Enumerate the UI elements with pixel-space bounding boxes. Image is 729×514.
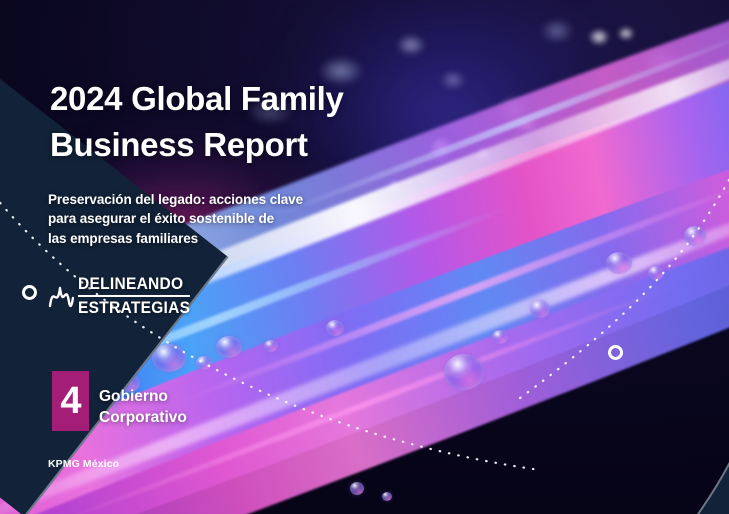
logo-line-2: ESTRATEGIAS bbox=[78, 297, 190, 317]
section-title-line-2: Corporativo bbox=[99, 408, 187, 429]
title-line-1: 2024 Global Family bbox=[50, 76, 470, 122]
subtitle-line-3: las empresas familiares bbox=[48, 229, 358, 249]
wave-squiggle-icon bbox=[48, 276, 74, 316]
footer-brand: KPMG México bbox=[48, 458, 119, 470]
logo-line-1: DELINEANDO bbox=[78, 276, 190, 297]
title-line-2: Business Report bbox=[50, 122, 470, 168]
page-title: 2024 Global Family Business Report bbox=[50, 76, 470, 167]
subtitle-line-1: Preservación del legado: acciones clave bbox=[48, 190, 358, 210]
delineando-estrategias-logo: DELINEANDO ESTRATEGIAS bbox=[48, 276, 197, 316]
section-title-line-1: Gobierno bbox=[99, 387, 187, 408]
section-title: Gobierno Corporativo bbox=[99, 387, 187, 429]
subtitle-line-2: para asegurar el éxito sostenible de bbox=[48, 209, 358, 229]
report-cover-page: 2024 Global Family Business Report Prese… bbox=[0, 0, 729, 514]
section-number: 4 bbox=[60, 382, 80, 420]
cover-content: 2024 Global Family Business Report Prese… bbox=[0, 0, 729, 514]
page-subtitle: Preservación del legado: acciones clave … bbox=[48, 190, 358, 250]
section-number-badge: 4 bbox=[52, 371, 89, 431]
logo-wordmark: DELINEANDO ESTRATEGIAS bbox=[78, 276, 197, 316]
